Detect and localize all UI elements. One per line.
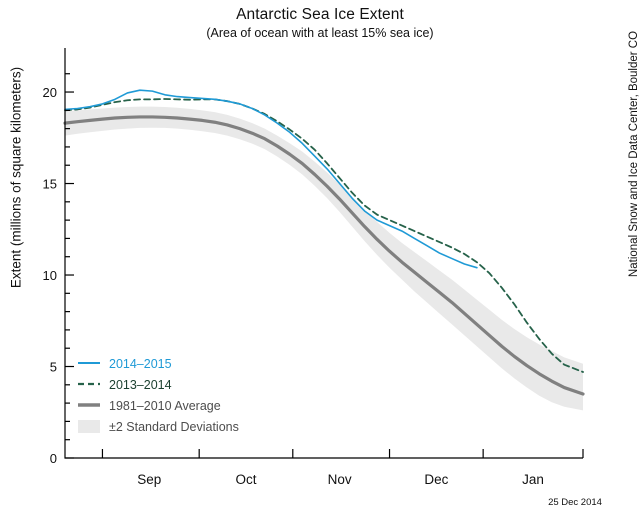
- y-axis-tick-label: 0: [50, 451, 57, 466]
- x-axis-month-label: Oct: [235, 472, 256, 487]
- date-stamp: 25 Dec 2014: [520, 497, 630, 508]
- x-axis-month-label: Jan: [522, 472, 544, 487]
- legend-label: 2013–2014: [109, 378, 172, 392]
- legend-label: 1981–2010 Average: [109, 399, 221, 413]
- legend-item[interactable]: 2014–2015: [78, 357, 172, 371]
- y-axis-label: Extent (millions of square kilometers): [9, 18, 24, 338]
- y-axis-tick-label: 10: [43, 268, 57, 283]
- legend-label: ±2 Standard Deviations: [109, 420, 239, 434]
- page-title: Antarctic Sea Ice Extent: [0, 6, 640, 24]
- legend-swatch: [78, 420, 100, 433]
- chart-subtitle: (Area of ocean with at least 15% sea ice…: [0, 26, 640, 40]
- legend-item[interactable]: 2013–2014: [78, 378, 172, 392]
- y-axis-tick-label: 5: [50, 360, 57, 375]
- chart-figure: Antarctic Sea Ice Extent (Area of ocean …: [0, 0, 640, 519]
- y-axis-tick-label: 15: [43, 177, 57, 192]
- legend-item[interactable]: ±2 Standard Deviations: [78, 420, 239, 434]
- x-axis-month-label: Dec: [424, 472, 448, 487]
- chart-plot-area: 05101520SepOctNovDecJan2014–20152013–201…: [0, 0, 640, 519]
- x-axis-month-label: Nov: [328, 472, 352, 487]
- legend-label: 2014–2015: [109, 357, 172, 371]
- legend-item[interactable]: 1981–2010 Average: [78, 399, 221, 413]
- x-axis-month-label: Sep: [137, 472, 161, 487]
- credit-label: National Snow and Ice Data Center, Bould…: [628, 0, 640, 314]
- chart-title-block: Antarctic Sea Ice Extent (Area of ocean …: [0, 6, 640, 40]
- y-axis-tick-label: 20: [43, 85, 57, 100]
